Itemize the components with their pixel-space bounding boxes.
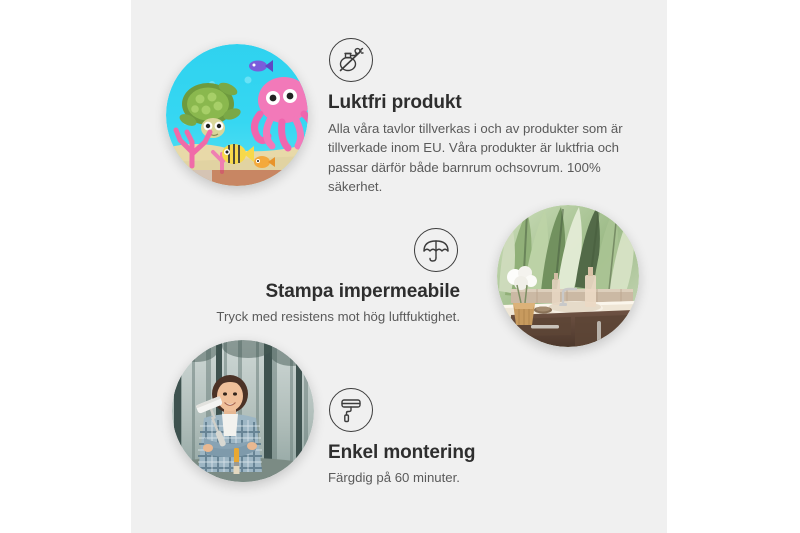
photo-forest: [172, 340, 314, 482]
feature-title: Luktfri produkt: [328, 92, 628, 114]
photo-underwater: [166, 44, 308, 186]
product-feature-banner: Luktfri produkt Alla våra tavlor tillver…: [0, 0, 800, 533]
feature-title: Enkel montering: [328, 442, 608, 464]
no-fragrance-icon: [329, 38, 373, 82]
paint-roller-icon: [329, 388, 373, 432]
photo-bathroom: [497, 205, 639, 347]
feature-body: Tryck med resistens mot hög luftfuktighe…: [196, 307, 460, 327]
feature-waterproof: Stampa impermeabile Tryck med resistens …: [196, 228, 460, 326]
feature-easy-install: Enkel montering Färgdig på 60 minuter.: [328, 388, 608, 487]
umbrella-icon: [414, 228, 458, 272]
feature-body: Alla våra tavlor tillverkas i och av pro…: [328, 119, 628, 197]
feature-body: Färgdig på 60 minuter.: [328, 468, 608, 488]
feature-title: Stampa impermeabile: [196, 281, 460, 303]
feature-odour-free: Luktfri produkt Alla våra tavlor tillver…: [328, 38, 628, 197]
